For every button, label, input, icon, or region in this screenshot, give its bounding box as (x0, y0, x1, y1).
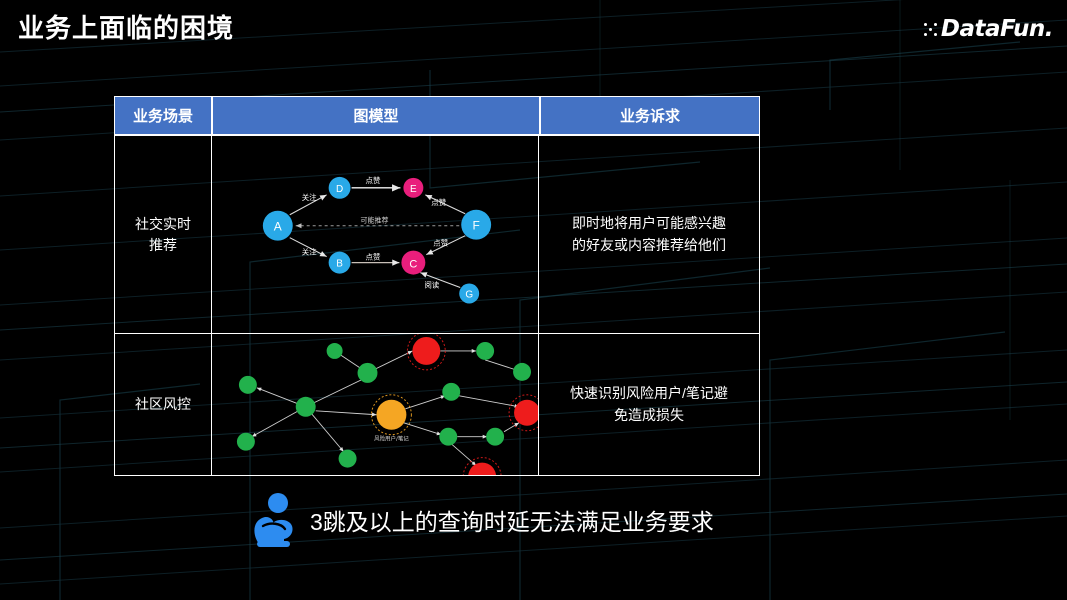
row2-demand-line2: 免造成损失 (614, 407, 684, 423)
edge-label-recommend: 可能推荐 (361, 216, 389, 225)
network-node-normal (339, 450, 357, 468)
edge-label-like-3: 点赞 (366, 252, 381, 262)
row2-graph-cell: 风险用户/笔记 (212, 334, 539, 475)
network-node-normal (327, 343, 343, 359)
edge-label-like-4: 点赞 (433, 238, 448, 248)
table-header-demand: 业务诉求 (540, 96, 760, 135)
edge-label-read: 阅读 (424, 280, 439, 290)
edge-label-like-1: 点赞 (366, 175, 381, 185)
row1-scene-cell: 社交实时 推荐 (115, 136, 212, 333)
graph-node-D-label: D (336, 184, 343, 195)
page-title: 业务上面临的困境 (18, 8, 234, 45)
table-header-row: 业务场景 图模型 业务诉求 (114, 96, 760, 135)
network-node-risk (514, 400, 538, 426)
network-node-normal (239, 376, 257, 394)
edge-label-like-2: 点赞 (431, 197, 446, 207)
table-header-model: 图模型 (212, 96, 540, 135)
social-recommendation-graph: A D E F B C G 关注 点赞 点赞 可能推荐 关注 (212, 136, 538, 333)
network-node-normal (358, 363, 378, 383)
table-row: 社交实时 推荐 (115, 136, 759, 334)
table-header-scene: 业务场景 (114, 96, 212, 135)
center-node-label: 风险用户/笔记 (374, 435, 409, 443)
graph-node-E-label: E (410, 184, 417, 195)
graph-node-G-label: G (465, 289, 473, 300)
network-node-normal (237, 433, 255, 451)
network-node-normal (439, 428, 457, 446)
network-node-normal (476, 342, 494, 360)
thinking-person-icon (250, 492, 296, 548)
footer-note-text: 3跳及以上的查询时延无法满足业务要求 (310, 503, 714, 537)
table-body: 社交实时 推荐 (114, 135, 760, 476)
datafun-logo: DataFun. (924, 16, 1053, 42)
risk-control-network: 风险用户/笔记 (212, 334, 538, 475)
row2-demand-line1: 快速识别风险用户/笔记避 (570, 385, 728, 401)
network-node-normal (513, 363, 531, 381)
edge-label-follow-2: 关注 (302, 247, 317, 257)
graph-node-B-label: B (336, 259, 343, 270)
scenario-table: 业务场景 图模型 业务诉求 社交实时 推荐 (114, 96, 760, 476)
network-node-normal (486, 428, 504, 446)
row1-scene-line2: 推荐 (149, 237, 177, 253)
row1-scene-line1: 社交实时 (135, 216, 191, 232)
network-node-center-risk (376, 400, 406, 430)
datafun-dots-icon (924, 23, 937, 36)
slide-root: 业务上面临的困境 DataFun. 业务场景 图模型 业务诉求 社交实时 推荐 (0, 0, 1067, 600)
row2-demand-cell: 快速识别风险用户/笔记避 免造成损失 (539, 334, 759, 475)
graph-node-A-label: A (274, 220, 282, 234)
row2-scene-cell: 社区风控 (115, 334, 212, 475)
graph-node-C-label: C (409, 259, 417, 271)
row1-demand-line1: 即时地将用户可能感兴趣 (572, 215, 726, 231)
network-node-normal (442, 383, 460, 401)
footer-note-group: 3跳及以上的查询时延无法满足业务要求 (250, 492, 714, 548)
logo-wordmark: DataFun. (941, 16, 1053, 42)
edge-label-follow-1: 关注 (302, 192, 317, 202)
graph-node-F-label: F (473, 219, 480, 233)
network-node-risk (412, 337, 440, 365)
table-row: 社区风控 (115, 334, 759, 475)
row1-demand-line2: 的好友或内容推荐给他们 (572, 237, 726, 253)
row1-graph-cell: A D E F B C G 关注 点赞 点赞 可能推荐 关注 (212, 136, 539, 333)
network-node-hub (296, 397, 316, 417)
network-node-risk (468, 463, 496, 475)
row1-demand-cell: 即时地将用户可能感兴趣 的好友或内容推荐给他们 (539, 136, 759, 333)
